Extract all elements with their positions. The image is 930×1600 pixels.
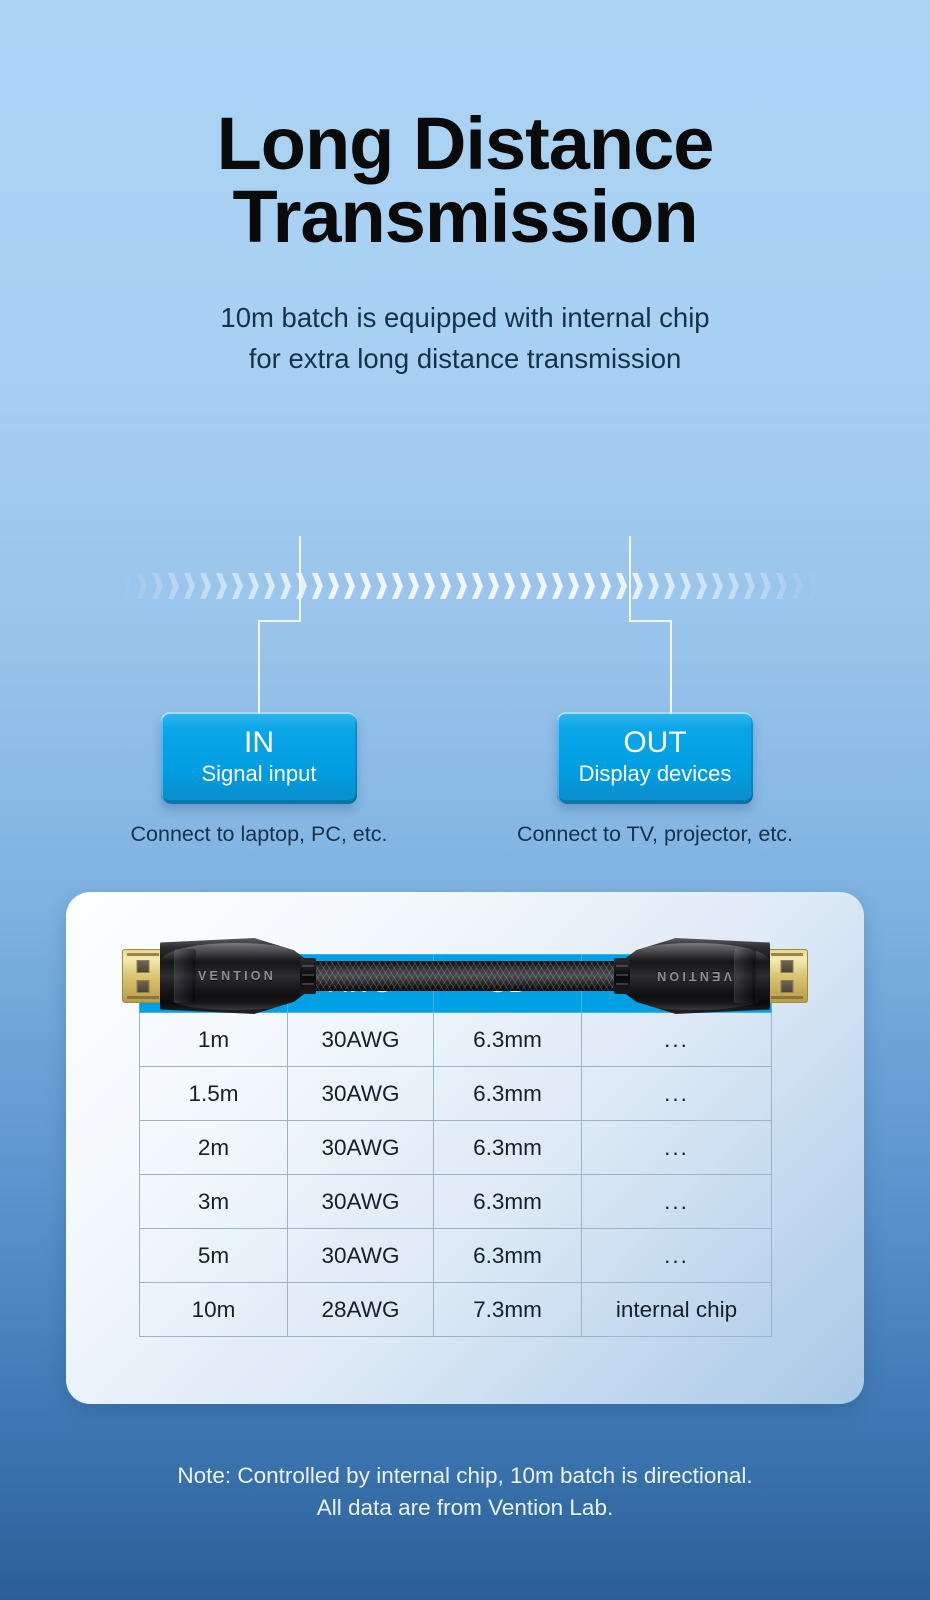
brand-label-left: VENTION — [198, 969, 276, 983]
footer-note-line-2: All data are from Vention Lab. — [0, 1492, 930, 1524]
braided-cable-cord — [290, 961, 640, 991]
chevron-icon — [600, 573, 611, 599]
page-title: Long Distance Transmission — [0, 108, 930, 253]
leader-line-out-vertical-top — [629, 536, 631, 622]
hero-subtitle: 10m batch is equipped with internal chip… — [0, 298, 930, 379]
cell-chip: ... — [582, 1067, 772, 1121]
chevron-icon — [456, 573, 467, 599]
chevron-icon — [712, 573, 723, 599]
chevron-icon — [376, 573, 387, 599]
chevron-icon — [264, 573, 275, 599]
chevron-icon — [808, 573, 819, 599]
chevron-icon — [168, 573, 179, 599]
cell-length: 1m — [140, 1013, 288, 1067]
footer-note-line-1: Note: Controlled by internal chip, 10m b… — [0, 1460, 930, 1492]
cell-od: 6.3mm — [434, 1229, 582, 1283]
chevron-icon — [536, 573, 547, 599]
chevron-icon — [776, 573, 787, 599]
callout-out: OUT Display devices — [557, 712, 753, 804]
chevron-icon — [328, 573, 339, 599]
chevron-icon — [280, 573, 291, 599]
connector-housing-left: VENTION — [160, 938, 312, 1014]
leader-line-out-vertical-bottom — [670, 620, 672, 714]
table-row: 1m 30AWG 6.3mm ... — [140, 1013, 772, 1067]
cell-awg: 30AWG — [288, 1121, 434, 1175]
chevron-icon — [696, 573, 707, 599]
callout-in: IN Signal input — [161, 712, 357, 804]
promo-page: Long Distance Transmission 10m batch is … — [0, 0, 930, 1600]
table-row: 2m 30AWG 6.3mm ... — [140, 1121, 772, 1175]
title-line-1: Long Distance — [217, 102, 714, 185]
cell-length: 1.5m — [140, 1067, 288, 1121]
cell-awg: 30AWG — [288, 1067, 434, 1121]
cell-od: 6.3mm — [434, 1013, 582, 1067]
chevron-icon — [584, 573, 595, 599]
cell-chip: ... — [582, 1121, 772, 1175]
callout-out-caption: Connect to TV, projector, etc. — [505, 822, 805, 847]
strain-relief-left — [300, 958, 316, 994]
chevron-icon — [744, 573, 755, 599]
chevron-icon — [248, 573, 259, 599]
chevron-icon — [424, 573, 435, 599]
chevron-icon — [344, 573, 355, 599]
cell-chip: ... — [582, 1013, 772, 1067]
title-line-2: Transmission — [0, 181, 930, 254]
footer-note: Note: Controlled by internal chip, 10m b… — [0, 1460, 930, 1524]
chevron-icon — [568, 573, 579, 599]
brand-label-right: VENTION — [654, 969, 732, 983]
cell-length: 5m — [140, 1229, 288, 1283]
leader-line-in-vertical-top — [299, 536, 301, 622]
chevron-icon — [216, 573, 227, 599]
chevron-icon — [392, 573, 403, 599]
chevron-icon — [312, 573, 323, 599]
cell-od: 6.3mm — [434, 1121, 582, 1175]
cell-length: 10m — [140, 1283, 288, 1337]
chevron-icon — [152, 573, 163, 599]
chevron-icon — [136, 573, 147, 599]
displayport-plug-right — [766, 949, 808, 1003]
chevron-icon — [520, 573, 531, 599]
table-row: 5m 30AWG 6.3mm ... — [140, 1229, 772, 1283]
chevron-icon — [184, 573, 195, 599]
chevron-icon — [616, 573, 627, 599]
cell-od: 6.3mm — [434, 1067, 582, 1121]
chevron-icon — [504, 573, 515, 599]
chevron-icon — [632, 573, 643, 599]
chevron-icon — [680, 573, 691, 599]
table-row: 10m 28AWG 7.3mm internal chip — [140, 1283, 772, 1337]
cell-chip: ... — [582, 1175, 772, 1229]
strain-relief-right — [614, 958, 630, 994]
table-row: 3m 30AWG 6.3mm ... — [140, 1175, 772, 1229]
cell-awg: 30AWG — [288, 1175, 434, 1229]
callout-in-title: IN — [244, 727, 274, 759]
chevron-icon — [472, 573, 483, 599]
displayport-plug-left — [122, 949, 164, 1003]
chevron-icon — [360, 573, 371, 599]
cell-length: 2m — [140, 1121, 288, 1175]
chevron-icon — [728, 573, 739, 599]
cell-length: 3m — [140, 1175, 288, 1229]
chevron-icon — [488, 573, 499, 599]
chevron-icon — [232, 573, 243, 599]
cell-awg: 30AWG — [288, 1229, 434, 1283]
cell-awg: 30AWG — [288, 1013, 434, 1067]
connector-left: VENTION — [122, 938, 312, 1014]
cell-od: 6.3mm — [434, 1175, 582, 1229]
chevron-icon — [552, 573, 563, 599]
chevron-icon — [440, 573, 451, 599]
connector-right: VENTION — [618, 938, 808, 1014]
hero-heading: Long Distance Transmission — [0, 108, 930, 253]
callout-out-title: OUT — [623, 727, 686, 759]
leader-line-out-horizontal — [629, 620, 672, 622]
chevron-icon — [200, 573, 211, 599]
cable-product-image: VENTION VENTION — [0, 455, 930, 640]
chevron-icon — [408, 573, 419, 599]
signal-flow-arrows — [120, 565, 820, 607]
chevron-icon — [296, 573, 307, 599]
cell-chip: ... — [582, 1229, 772, 1283]
cell-od: 7.3mm — [434, 1283, 582, 1337]
leader-line-in-vertical-bottom — [258, 620, 260, 714]
cell-awg: 28AWG — [288, 1283, 434, 1337]
chevron-icon — [120, 573, 131, 599]
callout-out-subtitle: Display devices — [579, 759, 732, 789]
chevron-icon — [792, 573, 803, 599]
callout-in-subtitle: Signal input — [202, 759, 317, 789]
subtitle-line-2: for extra long distance transmission — [0, 339, 930, 380]
table-row: 1.5m 30AWG 6.3mm ... — [140, 1067, 772, 1121]
leader-line-in-horizontal — [258, 620, 301, 622]
chevron-icon — [648, 573, 659, 599]
chevron-icon — [664, 573, 675, 599]
callout-in-caption: Connect to laptop, PC, etc. — [109, 822, 409, 847]
subtitle-line-1: 10m batch is equipped with internal chip — [0, 298, 930, 339]
chevron-icon — [760, 573, 771, 599]
cell-chip: internal chip — [582, 1283, 772, 1337]
connector-housing-right: VENTION — [618, 938, 770, 1014]
